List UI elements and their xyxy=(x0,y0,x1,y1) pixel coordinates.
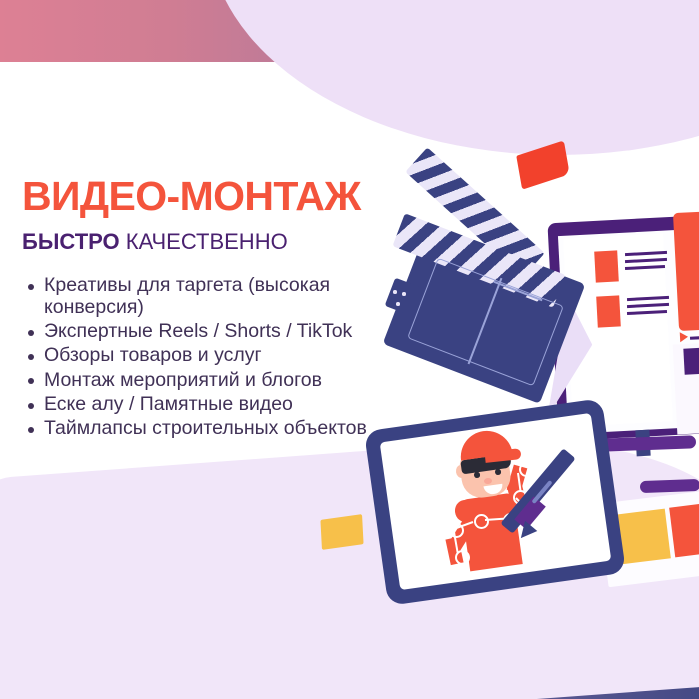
monitor-dark-tile xyxy=(683,347,699,374)
rig-joint-handle[interactable] xyxy=(455,550,470,565)
yellow-note-shape-icon xyxy=(320,514,363,550)
poster-text-block: ВИДЕО-МОНТАЖ БЫСТРО КАЧЕСТВЕННО Креативы… xyxy=(22,176,427,443)
character-eye xyxy=(474,472,480,478)
subtitle-strong-word: БЫСТРО xyxy=(22,229,120,254)
rig-joint-handle[interactable] xyxy=(519,462,534,477)
monitor-progress-line xyxy=(690,335,699,340)
monitor-thumbnail-1 xyxy=(594,250,619,282)
list-item: Обзоры товаров и услуг xyxy=(44,345,396,367)
list-item: Таймлапсы строительных объектов xyxy=(44,418,396,440)
list-item: Еске алу / Памятные видео xyxy=(44,394,396,416)
poster-canvas: ВИДЕО-МОНТАЖ БЫСТРО КАЧЕСТВЕННО Креативы… xyxy=(0,0,699,699)
rig-joint-handle[interactable] xyxy=(449,523,464,538)
character-eye xyxy=(495,469,501,475)
purple-bar-shape xyxy=(600,435,696,451)
top-lavender-blob xyxy=(208,0,699,155)
page-subtitle: БЫСТРО КАЧЕСТВЕННО xyxy=(22,231,427,253)
film-frame-red xyxy=(669,501,699,558)
list-item: Экспертные Reels / Shorts / TikTok xyxy=(44,321,396,343)
rig-joint-handle[interactable] xyxy=(474,514,489,529)
play-triangle-icon xyxy=(680,332,689,342)
page-title: ВИДЕО-МОНТАЖ xyxy=(22,176,427,217)
list-item: Креативы для таргета (высокая конверсия) xyxy=(44,275,396,319)
purple-bar-shape xyxy=(640,479,699,493)
list-item: Монтаж мероприятий и блогов xyxy=(44,370,396,392)
service-list: Креативы для таргета (высокая конверсия)… xyxy=(22,275,427,440)
monitor-thumbnail-2 xyxy=(596,295,621,327)
subtitle-light-word: КАЧЕСТВЕННО xyxy=(126,229,288,254)
